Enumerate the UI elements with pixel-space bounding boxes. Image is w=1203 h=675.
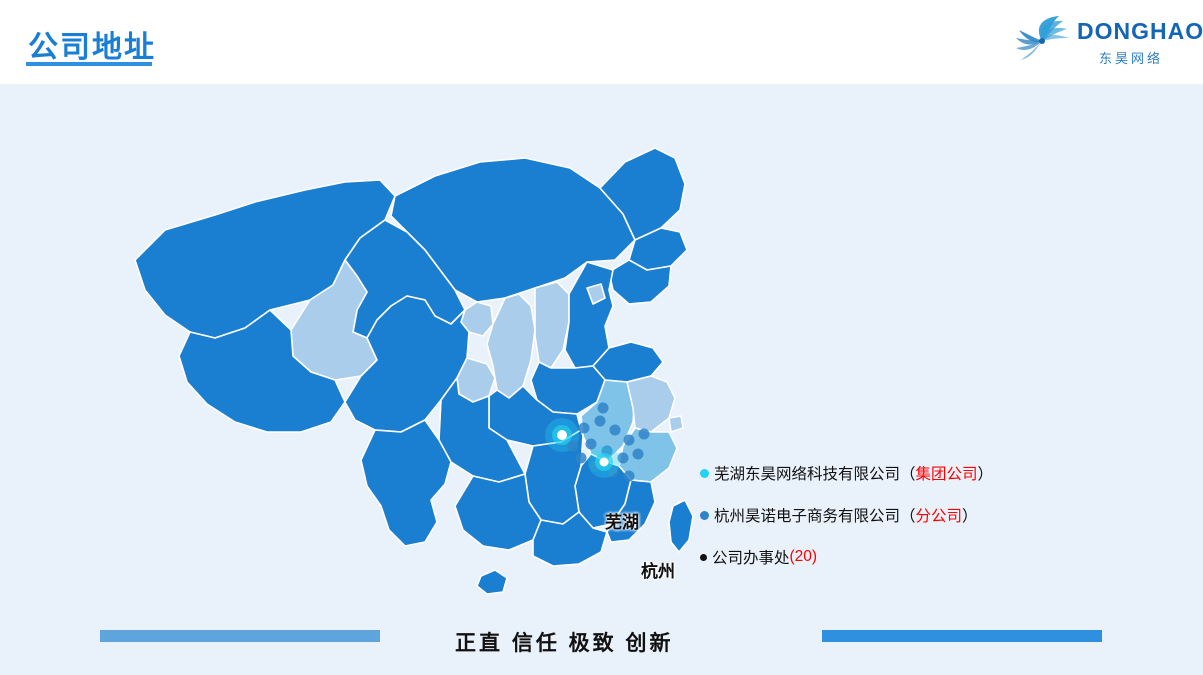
- company-logo: DONGHAO 东昊网络: [1011, 10, 1181, 72]
- province-jiangsu: [627, 376, 675, 432]
- map-label-wuhu: 芜湖: [605, 508, 639, 533]
- legend-highlight-3: (20): [790, 548, 818, 566]
- province-shanghai: [669, 416, 683, 432]
- legend: 芜湖东昊网络科技有限公司（ 集团公司 ） 杭州昊诺电子商务有限公司（ 分公司 ）…: [700, 462, 1100, 588]
- legend-dot-blue-icon: [700, 511, 709, 520]
- province-hainan: [477, 570, 507, 594]
- china-map-svg: [95, 110, 735, 620]
- page-title: 公司地址: [28, 22, 156, 66]
- logo-name: DONGHAO: [1077, 18, 1203, 45]
- legend-item-branch-company: 杭州昊诺电子商务有限公司（ 分公司 ）: [700, 504, 1100, 526]
- legend-suffix-1: ）: [978, 462, 994, 484]
- legend-text-3: 公司办事处: [712, 546, 790, 568]
- legend-highlight-2: 分公司: [916, 504, 963, 526]
- legend-item-offices: 公司办事处 (20): [700, 546, 1100, 568]
- province-shanxi: [535, 282, 569, 368]
- footer-bar-left: [100, 630, 380, 642]
- title-underline: [26, 62, 152, 66]
- footer-bar-right: [822, 630, 1102, 642]
- legend-text-1: 芜湖东昊网络科技有限公司（: [714, 462, 916, 484]
- legend-highlight-1: 集团公司: [916, 462, 978, 484]
- marker-hangzhou: [588, 446, 620, 478]
- fan-burst-icon: [1011, 14, 1073, 68]
- legend-item-group-company: 芜湖东昊网络科技有限公司（ 集团公司 ）: [700, 462, 1100, 484]
- slide: 公司地址 DONGHAO 东昊网络: [0, 0, 1203, 675]
- slide-header: 公司地址 DONGHAO 东昊网络: [0, 0, 1203, 84]
- legend-suffix-2: ）: [962, 504, 978, 526]
- logo-subtitle: 东昊网络: [1099, 48, 1163, 67]
- footer-slogan: 正直 信任 极致 创新: [455, 627, 674, 657]
- legend-dot-cyan-icon: [700, 469, 709, 478]
- province-yunnan: [361, 420, 451, 546]
- province-taiwan: [669, 500, 693, 552]
- legend-dot-black-icon: [700, 554, 707, 561]
- map-label-hangzhou: 杭州: [641, 557, 675, 582]
- china-map: 芜湖 杭州: [95, 110, 735, 620]
- legend-text-2: 杭州昊诺电子商务有限公司（: [714, 504, 916, 526]
